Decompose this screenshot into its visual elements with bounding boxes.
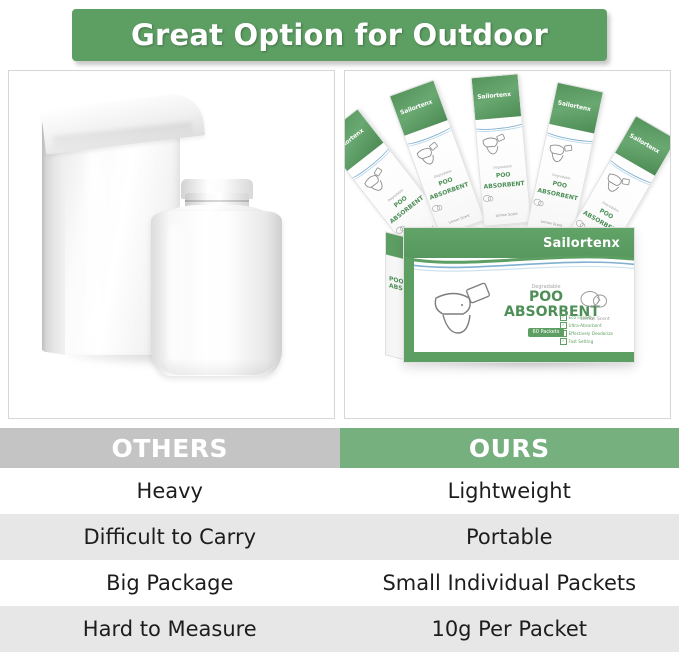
box-feature-list: ✓ Eco Friendly ✓ Ultra-Absorbent ✓ Effec…	[560, 314, 622, 346]
box-brand-label: Sailortenx	[543, 236, 620, 251]
pouch-gusset-edge	[42, 122, 47, 351]
box-feature-item: ✓ Effectively Deodorize	[560, 330, 622, 337]
comparison-row: Heavy Lightweight	[0, 468, 679, 514]
others-cell: Difficult to Carry	[0, 514, 340, 560]
product-box: POO ABSORBENT Sailortenx	[385, 221, 633, 361]
box-swoosh-graphic	[403, 250, 635, 274]
others-cell: Big Package	[0, 560, 340, 606]
packet-brand-label: Sailortenx	[557, 99, 591, 113]
check-icon: ✓	[560, 314, 567, 321]
header-banner: Great Option for Outdoor	[72, 9, 607, 61]
box-left-green-strip	[404, 258, 414, 362]
ours-cell: Small Individual Packets	[340, 560, 679, 606]
ours-cell: Lightweight	[340, 468, 679, 514]
packet-brand-label: Sailortenx	[628, 132, 661, 155]
toilet-icon	[426, 280, 494, 342]
packet-title-line1: POO	[480, 170, 526, 181]
toilet-icon	[476, 129, 509, 162]
comparison-row: Big Package Small Individual Packets	[0, 560, 679, 606]
tub-highlight	[169, 223, 191, 363]
packet-brand-label: Sailortenx	[477, 91, 511, 101]
ours-image-panel: Sailortenx Degradable POO ABSORBENT Lemo…	[344, 70, 671, 419]
others-product-scene	[9, 71, 334, 418]
comparison-header-row: OTHERS OURS	[0, 428, 679, 468]
product-image-panels: Sailortenx Degradable POO ABSORBENT Lemo…	[0, 70, 679, 419]
header-banner-title: Great Option for Outdoor	[131, 18, 548, 52]
check-icon: ✓	[560, 322, 567, 329]
packet-brand-label: Sailortenx	[344, 127, 365, 153]
column-header-others: OTHERS	[0, 428, 340, 468]
packet-green-header: Sailortenx	[472, 74, 521, 120]
ours-cell: 10g Per Packet	[340, 606, 679, 652]
others-cell: Hard to Measure	[0, 606, 340, 652]
packet-wave-graphic	[475, 116, 522, 130]
box-feature-item: ✓ Fast Setting	[560, 338, 622, 345]
packet-brand-label: Sailortenx	[399, 98, 433, 116]
box-feature-item: ✓ Eco Friendly	[560, 314, 622, 321]
comparison-row: Hard to Measure 10g Per Packet	[0, 606, 679, 652]
box-front-face: Sailortenx	[403, 227, 635, 363]
box-feature-label: Effectively Deodorize	[569, 331, 613, 336]
check-icon: ✓	[560, 338, 567, 345]
box-packet-count-badge: 60 Packets	[528, 328, 565, 337]
box-feature-label: Eco Friendly	[569, 315, 594, 320]
box-feature-label: Fast Setting	[569, 339, 594, 344]
others-image-panel	[8, 70, 335, 419]
packet-title-line2: ABSORBENT	[481, 180, 527, 191]
column-header-ours: OURS	[340, 428, 679, 468]
header-banner-area: Great Option for Outdoor	[0, 0, 679, 70]
packet-scent-label: Lemon Scent	[484, 211, 530, 219]
lemon-icon	[572, 288, 618, 310]
lemon-icon	[430, 201, 445, 215]
pouch-highlight	[87, 151, 117, 341]
others-cell: Heavy	[0, 468, 340, 514]
box-feature-label: Ultra-Absorbent	[569, 323, 602, 328]
tub-neck-ring	[185, 200, 249, 202]
tub-base	[159, 359, 274, 375]
comparison-table: OTHERS OURS Heavy Lightweight Difficult …	[0, 428, 679, 652]
lemon-icon	[482, 193, 495, 204]
product-packet: Sailortenx Degradable POO ABSORBENT Lemo…	[471, 73, 532, 227]
comparison-row: Difficult to Carry Portable	[0, 514, 679, 560]
ours-product-scene: Sailortenx Degradable POO ABSORBENT Lemo…	[345, 71, 670, 418]
lemon-icon	[532, 196, 546, 208]
ours-cell: Portable	[340, 514, 679, 560]
box-feature-item: ✓ Ultra-Absorbent	[560, 322, 622, 329]
check-icon: ✓	[560, 330, 567, 337]
box-bottom-green-strip	[404, 352, 634, 362]
